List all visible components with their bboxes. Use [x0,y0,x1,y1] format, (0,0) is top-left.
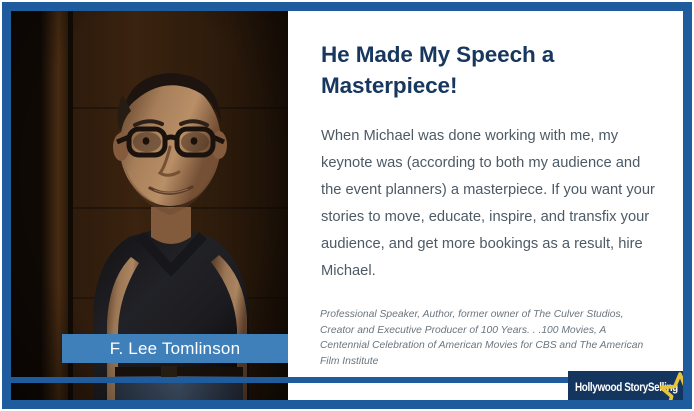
testimonial-attribution: Professional Speaker, Author, former own… [320,307,650,369]
card-content-area: F. Lee Tomlinson He Made My Speech a Mas… [11,11,683,400]
page-title: He Made My Speech a Masterpiece! [321,39,651,101]
speaker-name-banner: F. Lee Tomlinson [62,334,288,363]
star-icon [660,372,683,400]
testimonial-card: F. Lee Tomlinson He Made My Speech a Mas… [0,0,694,411]
bottom-accent-bar [11,377,580,383]
hollywood-storyselling-logo[interactable]: Hollywood StorySelling [568,371,683,400]
testimonial-body: When Michael was done working with me, m… [321,123,656,285]
speaker-photo: F. Lee Tomlinson [11,11,288,400]
testimonial-text-panel: He Made My Speech a Masterpiece! When Mi… [288,11,683,400]
